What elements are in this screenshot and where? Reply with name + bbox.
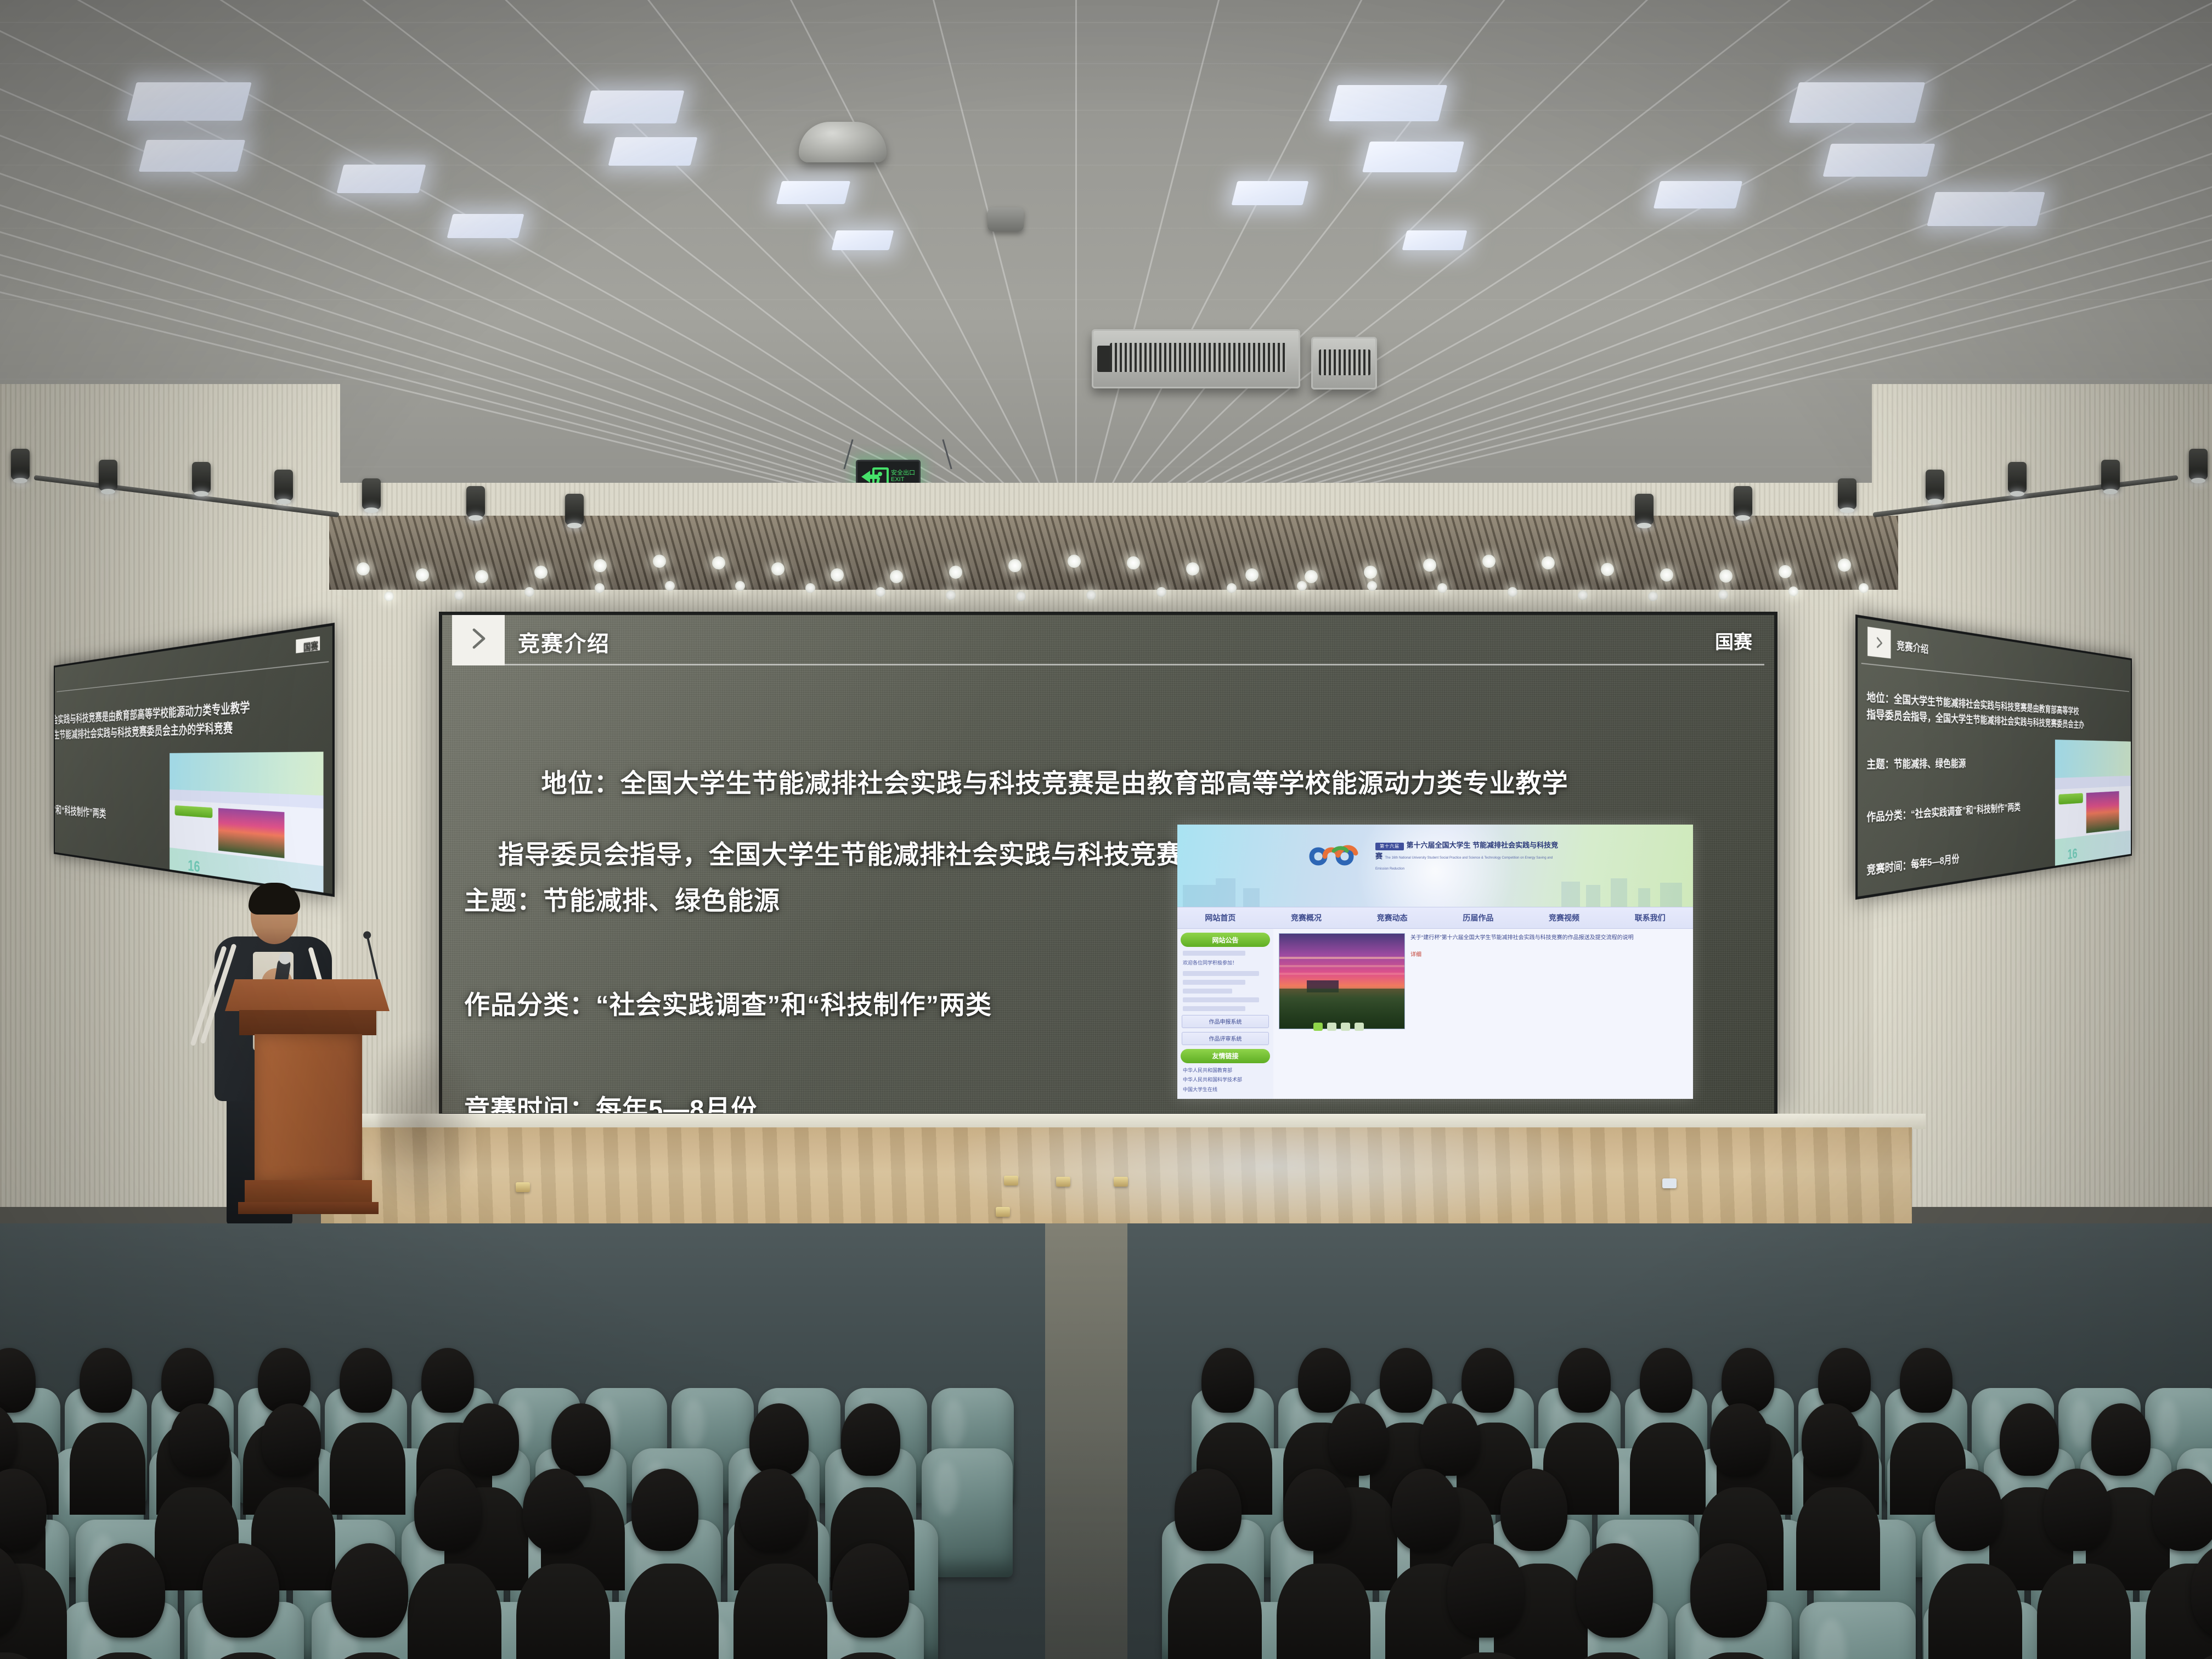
logo-title-en: The 16th National University Student Soc… [1375,856,1553,871]
side-left-website-thumb: 16 [170,752,323,894]
ceiling-panel-light [583,91,685,123]
audience-member-head [421,1348,474,1413]
website-nav-item-1[interactable]: 竞赛概况 [1263,912,1350,923]
logo-badge: 第十六届 [1375,843,1404,850]
stage-light-pool [949,1127,1596,1237]
recessed-downlight [534,566,548,579]
audience-member-head [170,1403,229,1476]
side-right-line-4: 作品分类：“社会实践调查”和“科技制作”两类 [1866,799,2020,825]
lectern-podium [236,979,379,1215]
audience-member-shoulders [408,1564,501,1659]
recessed-downlight [1601,563,1614,576]
audience-member-head [841,1403,900,1476]
track-spotlight [2008,462,2027,493]
audience-member-shoulders [1796,1487,1880,1590]
audience-member-head [262,1403,321,1476]
audience-member-head [161,1348,214,1413]
recessed-downlight [831,568,844,582]
floor-outlet [1662,1178,1677,1188]
ceiling-panel-light [1329,85,1447,121]
news-hero-image [1279,933,1405,1029]
audience-area [0,1223,2212,1659]
ceiling-rail [1075,0,1077,527]
skyline-building [1183,885,1216,907]
speaker-hair [249,883,300,915]
ceiling-panel-light [1654,181,1742,208]
audience-member-shoulders [1277,1564,1370,1659]
sidebar-link-most[interactable]: 中华人民共和国科学技术部 [1183,1076,1268,1084]
sidebar-note: 欢迎各位同学积极参加！ [1183,960,1268,967]
skyline-building [1216,878,1235,907]
sidebar-title-bar: 网站公告 [1181,933,1270,947]
pager-page-2[interactable] [1327,1023,1336,1031]
ceiling-rail [719,0,1077,527]
website-main: 网站公告 欢迎各位同学积极参加！ 作品申报系统 作品评审系统 友情链接 中华人民… [1177,929,1693,1099]
floor-outlet [996,1207,1010,1217]
track-spotlight [565,494,584,524]
recessed-downlight [1156,587,1166,597]
slide-chevron-box [452,615,505,665]
slide-title: 竞赛介绍 [518,626,610,658]
website-sidebar: 网站公告 欢迎各位同学积极参加！ 作品申报系统 作品评审系统 友情链接 中华人民… [1177,929,1273,1099]
recessed-downlight [890,570,903,583]
wall-base-trim [307,1114,1926,1129]
recessed-downlight [475,570,488,583]
audience-member-head [2152,1469,2212,1551]
recessed-downlight [1648,591,1658,601]
side-display-left: 国赛 社会实践与科技竞赛是由教育部高等学校能源动力类专业教学 大学生节能减排社会… [54,623,335,897]
audience-member-head [414,1469,481,1551]
news-more-link[interactable]: 详细 [1410,950,1688,960]
news-pager[interactable] [1313,1023,1364,1031]
audience-member-head [1329,1403,1388,1476]
ceiling-panel-light [337,165,426,193]
website-logo-text: 第十六届 第十六届全国大学生 节能减排社会实践与科技竞赛 The 16th Na… [1375,840,1564,873]
audience-member-head [1380,1348,1432,1413]
ceiling-panel-light [1232,181,1309,205]
sidebar-pill-review[interactable]: 作品评审系统 [1182,1032,1269,1045]
audience-member-head [551,1403,611,1476]
side-left-tag: 国赛 [303,638,318,653]
recessed-downlight [876,587,885,597]
recessed-downlight [357,562,370,575]
website-nav[interactable]: 网站首页竞赛概况竞赛动态历届作品竞赛视频联系我们 [1177,907,1693,929]
ceiling-panel-light [127,82,251,121]
ceiling-panel-light [447,214,524,238]
exit-label-en: EXIT [891,476,904,483]
audience-member-head [1175,1469,1242,1551]
skyline-building [1243,888,1260,907]
ceiling-rail [1075,0,1255,527]
recessed-downlight [595,583,605,593]
side-left-line-3: ”和“科技制作”两类 [55,802,106,821]
audience-member-head [1802,1403,1861,1476]
audience-member-head [1710,1403,1769,1476]
hvac-vent [1092,329,1300,388]
audience-member-head [331,1543,408,1638]
arrow-left-icon [861,471,870,483]
track-spotlight [192,462,211,493]
sidebar-links-title: 友情链接 [1181,1049,1270,1063]
audience-member-head [340,1348,392,1413]
recessed-downlight [1008,559,1022,572]
audience-member-head [202,1543,279,1638]
infinity-logo-icon [1306,839,1368,874]
audience-member-shoulders [1168,1564,1262,1659]
ceiling-rail [897,0,1077,527]
audience-member-head [1500,1469,1567,1551]
audience-member-head [2000,1403,2059,1476]
side-right-line-3: 主题：节能减排、绿色能源 [1866,755,1966,772]
ceiling-crossbeam [0,63,2212,64]
slide-line-status-a: 地位：全国大学生节能减排社会实践与科技竞赛是由教育部高等学校能源动力类专业教学 [541,769,1568,798]
track-spotlight [466,486,485,517]
ceiling-crossbeam [0,228,2212,229]
track-spotlight [1926,470,1944,500]
sidebar-pill-submit[interactable]: 作品申报系统 [1182,1015,1269,1028]
pager-page-1[interactable] [1313,1023,1323,1031]
recessed-downlight [1227,583,1237,593]
side-right-line-5: 竞赛时间：每年5—8月份 [1866,851,1959,878]
audience-member-head [1640,1348,1692,1413]
ceiling-panel-light [1362,142,1464,172]
recessed-downlight [735,581,745,591]
recessed-downlight [1859,583,1869,593]
ceiling-panel-light [608,137,698,166]
audience-member-head [1722,1348,1774,1413]
floor-outlet [1056,1177,1070,1187]
skyline-building [1660,883,1682,907]
skyline-building [1638,888,1650,907]
recessed-downlight [665,581,675,591]
side-display-right: 竞赛介绍 地位：全国大学生节能减排社会实践与科技竞赛是由教育部高等学校 指导委员… [1855,614,2132,900]
website-nav-item-4[interactable]: 竞赛视频 [1521,912,1607,923]
audience-member-head [258,1348,311,1413]
chevron-right-icon [465,625,492,652]
recessed-downlight [712,556,725,569]
audience-member-head [749,1403,809,1476]
pager-page-3[interactable] [1341,1023,1350,1031]
recessed-downlight [1367,581,1377,591]
audience-member-shoulders [2037,1564,2131,1659]
recessed-downlight [1086,590,1096,600]
ceiling-panel-light [1402,230,1468,250]
audience-member-shoulders [733,1564,827,1659]
auditorium-scene: 安全出口 EXIT 国赛 社会实践与科技竞赛是由教育部高等学校能源动力类专业教学… [0,0,2212,1659]
pager-page-4[interactable] [1355,1023,1364,1031]
recessed-downlight [1838,558,1851,572]
audience-member-shoulders [516,1564,610,1659]
side-right-website-thumb: 16 [2055,740,2131,867]
track-spotlight [1635,494,1654,524]
recessed-downlight [946,590,956,600]
podium-foot [238,1202,379,1214]
floor-outlet [516,1182,530,1192]
ceiling-panel-light [1823,144,1936,177]
audience-member-head [1201,1348,1254,1413]
recessed-downlight [805,583,815,593]
audience-member-head [1935,1469,2002,1551]
website-logo-row: 第十六届 第十六届全国大学生 节能减排社会实践与科技竞赛 The 16th Na… [1306,839,1564,874]
website-banner: 第十六届 第十六届全国大学生 节能减排社会实践与科技竞赛 The 16th Na… [1177,825,1693,907]
ceiling-panel-light [776,181,850,204]
recessed-downlight [454,590,464,600]
recessed-downlight [949,566,962,579]
skyline-building [1611,878,1627,907]
slide-header: 竞赛介绍 国赛 [442,615,1774,665]
side-right-title: 竞赛介绍 [1897,637,1928,657]
audience-member-head [1447,1543,1524,1638]
news-title[interactable]: 关于“建行杯”第十六届全国大学生节能减排社会实践与科技竞赛的作品报送及提交流程的… [1410,933,1688,943]
audience-member-head [1392,1469,1459,1551]
embedded-website-screenshot: 第十六届 第十六届全国大学生 节能减排社会实践与科技竞赛 The 16th Na… [1177,825,1693,1099]
slide-surface: 竞赛介绍 国赛 地位：全国大学生节能减排社会实践与科技竞赛是由教育部高等学校能源… [442,615,1774,1113]
track-spotlight [2189,449,2208,479]
website-content: 关于“建行杯”第十六届全国大学生节能减排社会实践与科技竞赛的作品报送及提交流程的… [1273,929,1693,1099]
podium-column [255,1034,362,1182]
recessed-downlight [1305,570,1318,583]
audience-member-head [1283,1469,1350,1551]
ceiling-panel-light [1927,192,2045,226]
track-spotlight [362,478,381,509]
recessed-downlight [1016,591,1026,601]
recessed-downlight [1508,587,1517,597]
website-nav-item-3[interactable]: 历届作品 [1435,912,1521,923]
slide-line-categories: 作品分类：“社会实践调查”和“科技制作”两类 [464,984,992,1022]
exit-label-cn: 安全出口 [891,470,915,476]
recessed-downlight [594,559,607,572]
floor-outlet [1004,1176,1018,1186]
audience-member-head [1818,1348,1871,1413]
ceiling-rail [1075,0,1611,527]
audience-member-head [1900,1348,1953,1413]
audience-member-head [460,1403,519,1476]
audience-member-head [740,1469,807,1551]
hvac-vent-secondary [1311,337,1377,390]
audience-member-shoulders [625,1564,719,1659]
track-spotlight [1838,478,1857,509]
slide-body: 地位：全国大学生节能减排社会实践与科技竞赛是由教育部高等学校能源动力类专业教学 … [442,665,1774,1113]
audience-member-head [631,1469,698,1551]
floor-outlet [1114,1177,1128,1187]
audience-member-head [1462,1348,1514,1413]
recessed-downlight [524,587,534,597]
ceiling-crossbeam [0,299,2212,300]
ceiling-dome-fixture [799,122,887,162]
recessed-downlight [384,591,394,601]
chevron-right-icon [1874,635,1884,651]
audience-member-head [1558,1348,1611,1413]
audience-member-head [2044,1469,2111,1551]
track-spotlight [2101,460,2120,490]
audience-member-shoulders [70,1423,145,1515]
slide-line-time: 竞赛时间：每年5—8月份 [464,1088,757,1113]
audience-member-head [523,1469,590,1551]
main-led-screen: 竞赛介绍 国赛 地位：全国大学生节能减排社会实践与科技竞赛是由教育部高等学校能源… [439,612,1778,1116]
ceiling-rail [540,0,1076,527]
recessed-downlight [1297,581,1307,591]
track-spotlight [11,449,30,479]
recessed-downlight [1364,566,1377,579]
recessed-downlight [416,568,429,582]
news-text-block: 关于“建行杯”第十六届全国大学生节能减排社会实践与科技竞赛的作品报送及提交流程的… [1410,933,1688,1094]
slide-line-theme: 主题：节能减排、绿色能源 [464,879,780,917]
audience-member-head [1576,1543,1653,1638]
audience-member-head [88,1543,165,1638]
center-aisle [1045,1223,1127,1659]
audience-member-head [1420,1403,1480,1476]
ceiling-crossbeam [0,22,2212,23]
website-nav-item-0[interactable]: 网站首页 [1177,912,1263,923]
sidebar-link-univ[interactable]: 中国大学生在线 [1183,1086,1268,1094]
audience-member-shoulders [330,1423,405,1515]
recessed-downlight [1578,590,1588,600]
side-right-chevron-box [1867,627,1891,658]
podium-neck [239,1010,376,1035]
smoke-detector-icon [988,207,1024,232]
skyline-building [1561,882,1580,907]
audience-member-shoulders [1630,1423,1706,1515]
ceiling-panel-light [1789,82,1925,123]
ceiling-panel-light [139,140,245,172]
track-spotlight [274,470,293,500]
skyline-building [1586,885,1600,907]
sidebar-link-moe[interactable]: 中华人民共和国教育部 [1183,1067,1268,1075]
audience-member-head [0,1348,36,1413]
website-nav-item-2[interactable]: 竞赛动态 [1349,912,1435,923]
auditorium-seat [1799,1602,1916,1659]
audience-member-head [80,1348,132,1413]
podium-top [225,979,390,1011]
ceiling-rail [1075,0,1968,527]
track-spotlight [99,460,117,490]
audience-member-head [2091,1403,2151,1476]
ceiling-panel-light [832,230,894,250]
podium-base [245,1180,372,1204]
podium-shadow [379,1031,483,1212]
audience-member-head [1298,1348,1351,1413]
audience-member-head [832,1543,909,1638]
exit-sign-text: 安全出口 EXIT [891,470,915,483]
track-spotlight [1734,486,1752,517]
audience-member-shoulders [1928,1564,2022,1659]
slide-tag: 国赛 [1715,627,1752,654]
audience-member-head [1690,1543,1767,1638]
website-nav-item-5[interactable]: 联系我们 [1607,912,1693,923]
